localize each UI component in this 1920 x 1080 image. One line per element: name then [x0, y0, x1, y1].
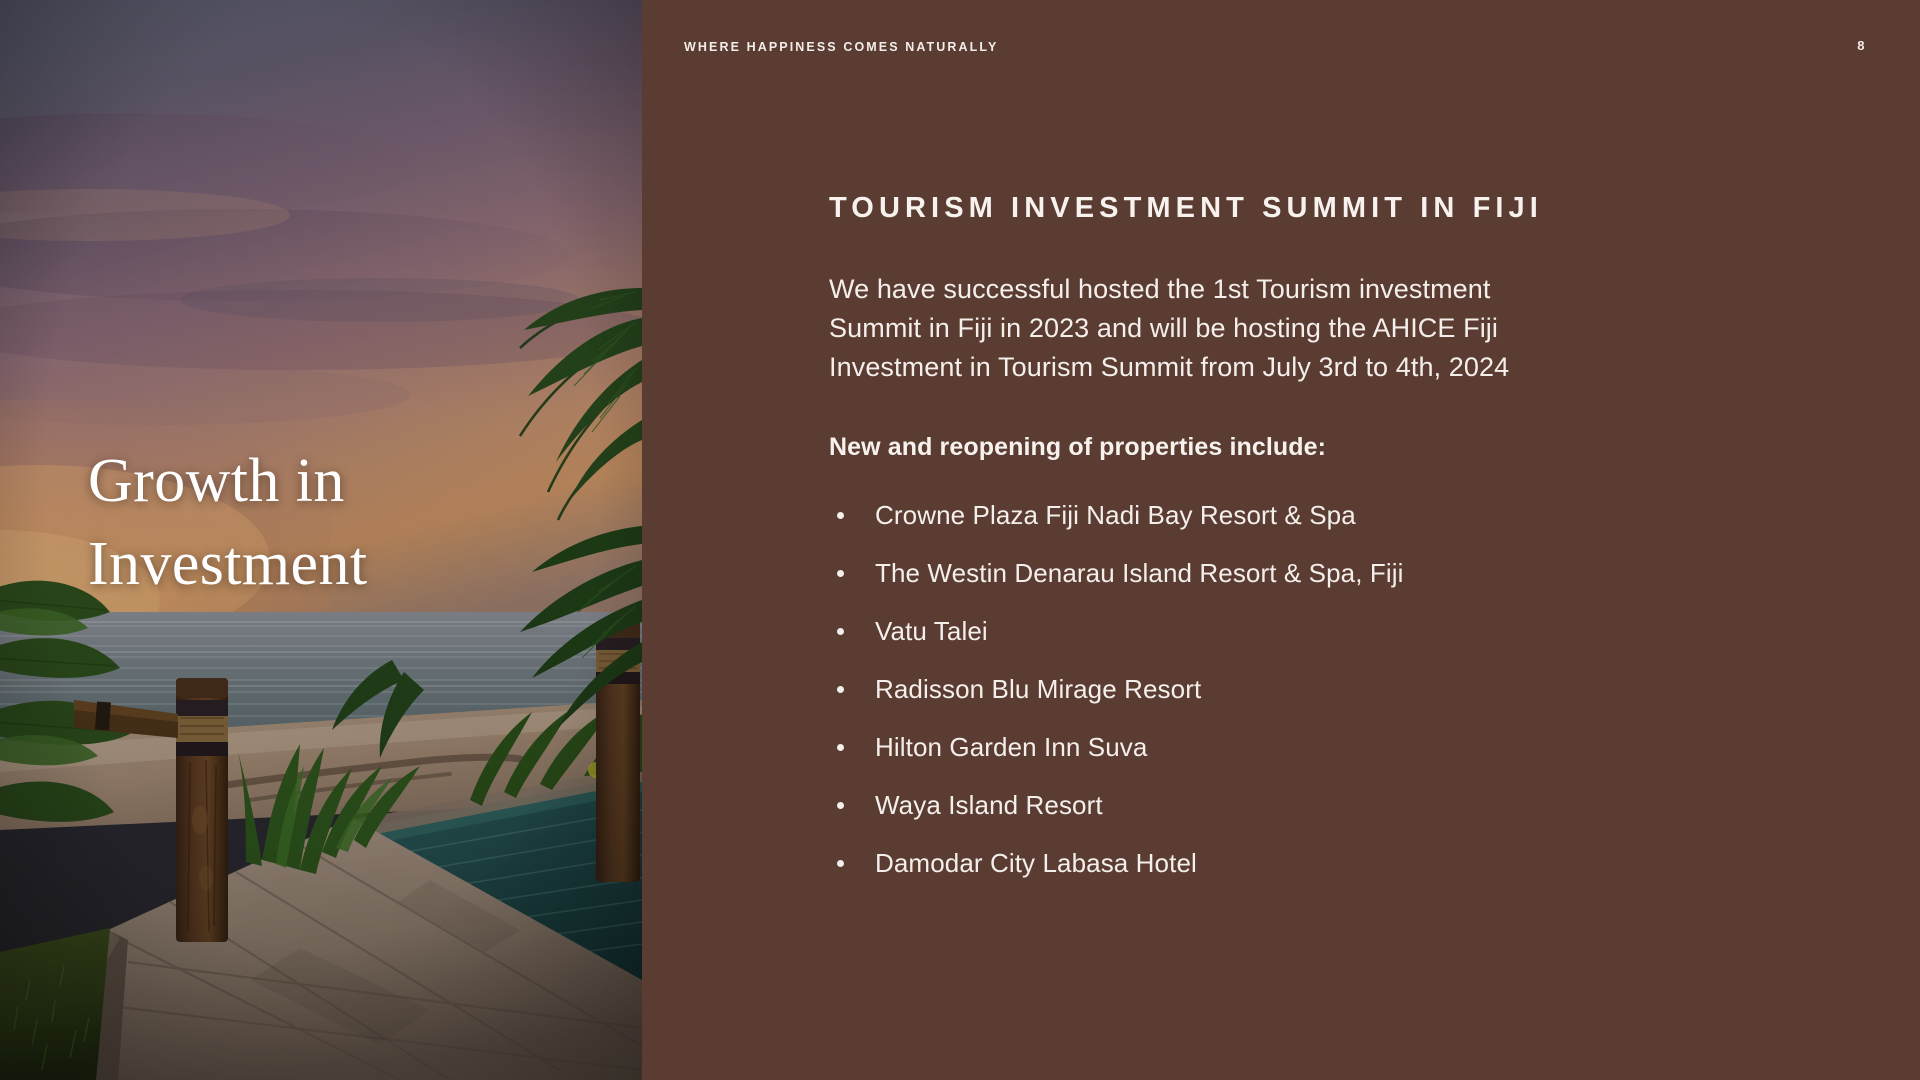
list-item-label: Waya Island Resort [875, 790, 1103, 820]
list-item: Damodar City Labasa Hotel [829, 847, 1779, 879]
hero-photo-panel: Growth in Investment [0, 0, 642, 1080]
content-panel: WHERE HAPPINESS COMES NATURALLY 8 TOURIS… [642, 0, 1920, 1080]
content-body: TOURISM INVESTMENT SUMMIT IN FIJI We hav… [829, 190, 1779, 879]
list-item: Waya Island Resort [829, 789, 1779, 821]
list-item-label: Crowne Plaza Fiji Nadi Bay Resort & Spa [875, 500, 1356, 530]
slide-title: TOURISM INVESTMENT SUMMIT IN FIJI [829, 190, 1779, 226]
list-item: Vatu Talei [829, 615, 1779, 647]
list-item-label: The Westin Denarau Island Resort & Spa, … [875, 558, 1404, 588]
brand-tagline: WHERE HAPPINESS COMES NATURALLY [684, 40, 998, 54]
bullet-dot-icon [837, 860, 844, 867]
list-item-label: Vatu Talei [875, 616, 988, 646]
slide-page-number: 8 [1857, 38, 1865, 53]
properties-list: Crowne Plaza Fiji Nadi Bay Resort & SpaT… [829, 499, 1779, 879]
intro-paragraph: We have successful hosted the 1st Touris… [829, 270, 1589, 387]
list-item-label: Hilton Garden Inn Suva [875, 732, 1147, 762]
bullet-dot-icon [837, 570, 844, 577]
list-item: Hilton Garden Inn Suva [829, 731, 1779, 763]
properties-subheading: New and reopening of properties include: [829, 431, 1779, 463]
list-item: The Westin Denarau Island Resort & Spa, … [829, 557, 1779, 589]
bullet-dot-icon [837, 744, 844, 751]
bullet-dot-icon [837, 512, 844, 519]
presentation-slide: Growth in Investment WHERE HAPPINESS COM… [0, 0, 1920, 1080]
bullet-dot-icon [837, 686, 844, 693]
list-item: Radisson Blu Mirage Resort [829, 673, 1779, 705]
list-item: Crowne Plaza Fiji Nadi Bay Resort & Spa [829, 499, 1779, 531]
bullet-dot-icon [837, 802, 844, 809]
photo-overlay-title: Growth in Investment [88, 440, 608, 606]
list-item-label: Damodar City Labasa Hotel [875, 848, 1197, 878]
bullet-dot-icon [837, 628, 844, 635]
list-item-label: Radisson Blu Mirage Resort [875, 674, 1201, 704]
